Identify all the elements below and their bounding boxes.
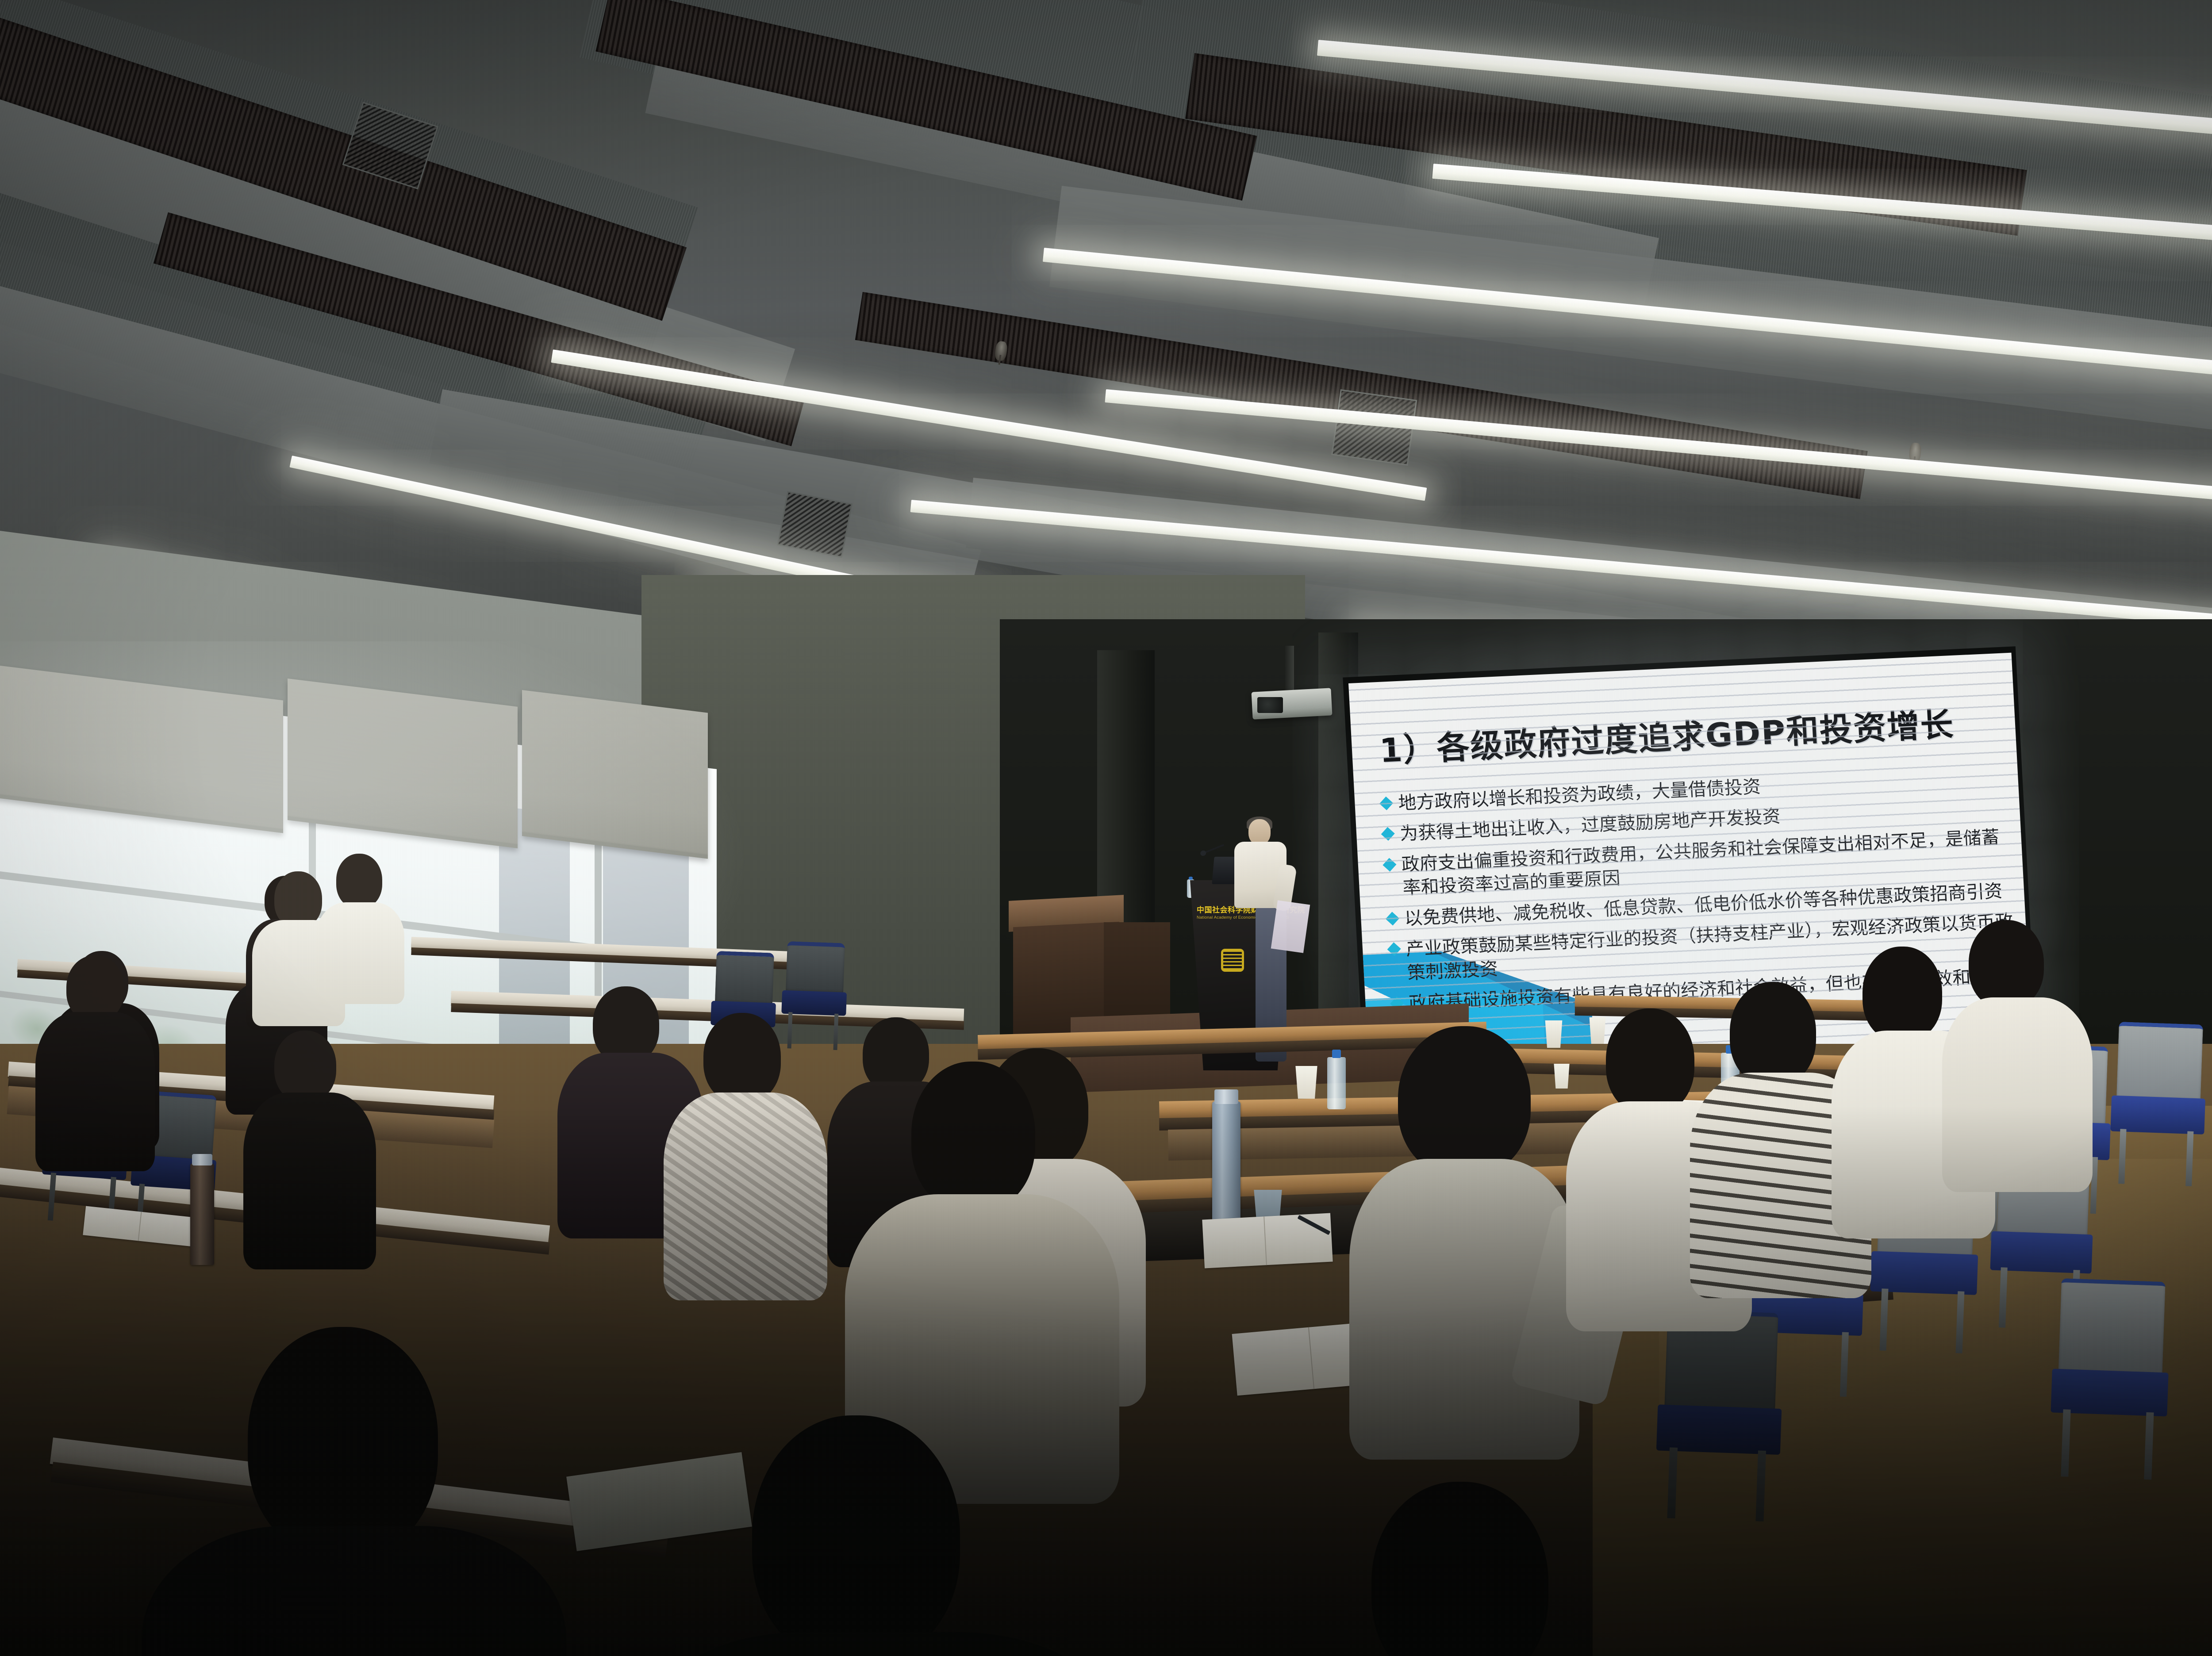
attendee-head (1863, 947, 1942, 1042)
vacuum-thermos (190, 1163, 214, 1265)
attendee-head (274, 871, 322, 928)
attendee-torso (142, 1526, 566, 1656)
chair-back (786, 941, 845, 994)
attendee-torso (35, 1012, 155, 1171)
diamond-bullet-icon (1386, 912, 1399, 926)
paper-cup (1553, 1064, 1571, 1089)
diamond-bullet-icon (1381, 827, 1395, 841)
chair-back (2058, 1278, 2166, 1376)
vacuum-thermos (1212, 1101, 1240, 1234)
diamond-bullet-icon (1382, 858, 1396, 871)
diamond-bullet-icon (1379, 797, 1393, 810)
chair[interactable] (784, 941, 845, 1034)
attendee-torso (316, 902, 404, 1004)
cass-logo-icon (1221, 949, 1244, 972)
attendee-head (248, 1327, 438, 1557)
projector-mount-pole (1285, 646, 1294, 694)
attendee-head (1730, 982, 1816, 1086)
chair[interactable] (2056, 1278, 2166, 1450)
paper-cup (1544, 1020, 1563, 1048)
speaker-head (1248, 819, 1271, 845)
lecture-room-photo: 1）各级政府过度追求GDP和投资增长 地方政府以增长和投资为政绩，大量借债投资 … (0, 0, 2212, 1656)
attendee-torso (243, 1092, 376, 1269)
attendee-head (593, 986, 659, 1064)
attendee-head (1606, 1008, 1694, 1115)
attendee-torso (1942, 997, 2093, 1192)
paper-cup (1588, 1017, 1607, 1044)
attendee-head (336, 854, 382, 908)
attendee-head (274, 1031, 336, 1102)
chair-back (2116, 1022, 2203, 1101)
paper-cup (1294, 1066, 1319, 1099)
chair-back (715, 951, 774, 1005)
window-blind[interactable] (522, 690, 708, 859)
window-blind[interactable] (288, 678, 518, 848)
attendee-torso (664, 1092, 827, 1300)
diamond-bullet-icon (1387, 943, 1401, 956)
projector-lens-icon (1257, 697, 1283, 713)
printed-pages (1271, 900, 1310, 953)
attendee-head (752, 1415, 960, 1656)
chair[interactable] (2114, 1022, 2203, 1161)
attendee-head (1969, 920, 2044, 1008)
water-bottle (1327, 1057, 1346, 1109)
slide-title: 1）各级政府过度追求GDP和投资增长 (1378, 696, 1999, 772)
attendee-head (1398, 1026, 1531, 1177)
chair[interactable] (1662, 1309, 1778, 1490)
attendee-head (703, 1013, 781, 1104)
open-notebook (1202, 1213, 1333, 1268)
attendee-head (911, 1062, 1035, 1212)
